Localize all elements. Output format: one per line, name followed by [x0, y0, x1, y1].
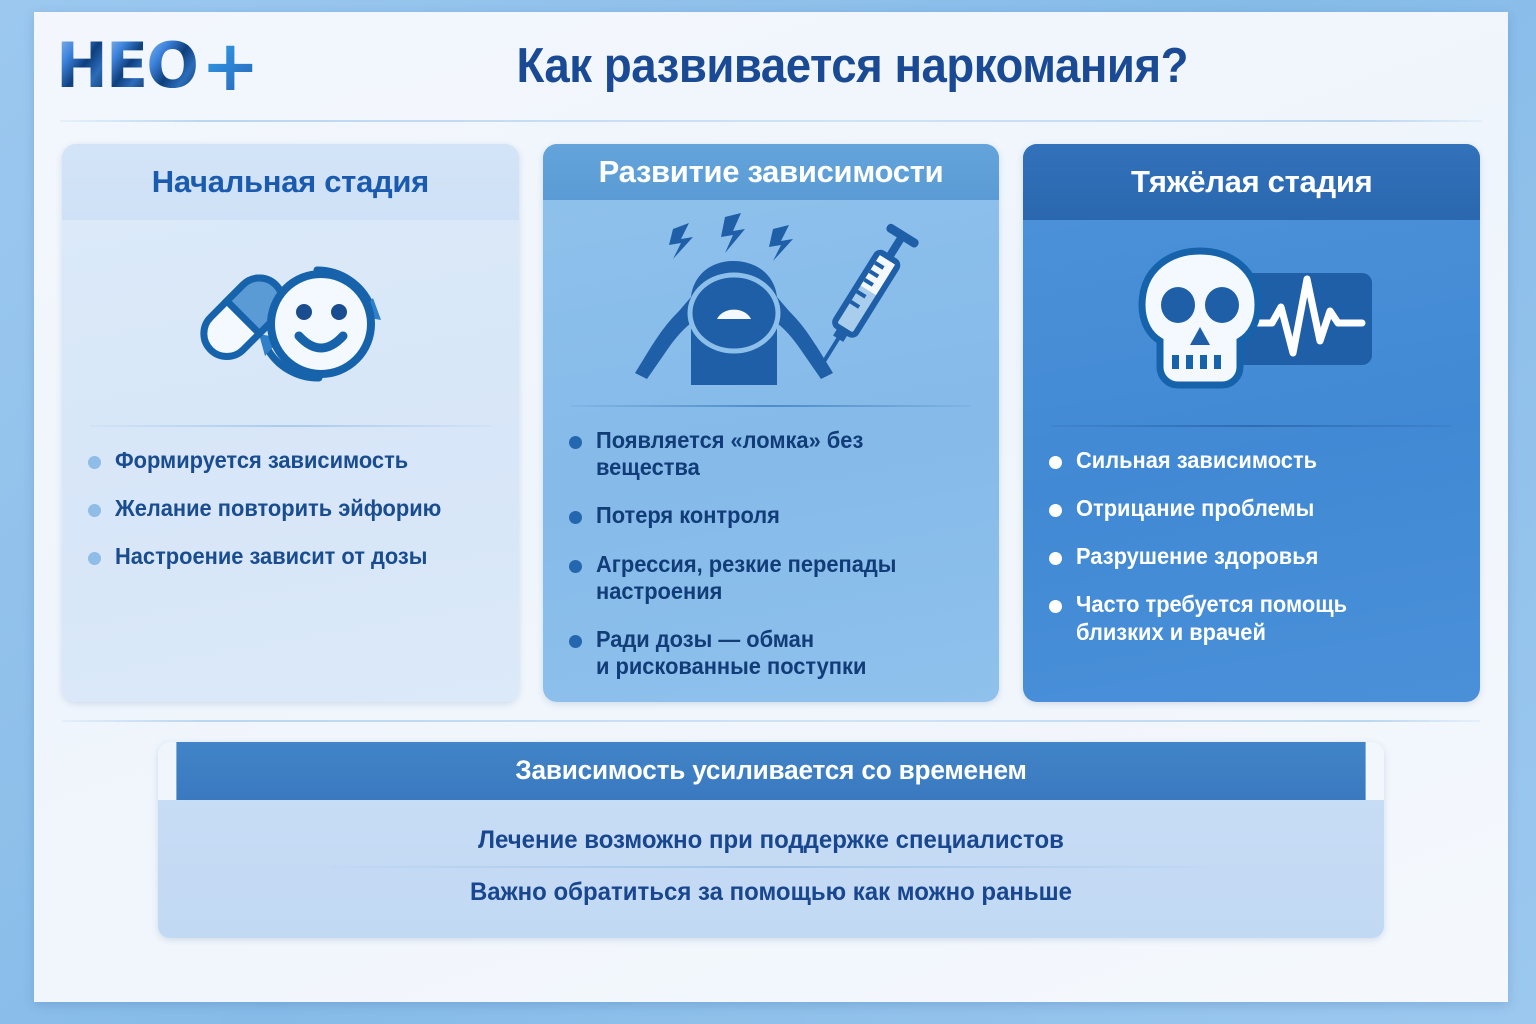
bullet-text: Отрицание проблемы — [1076, 495, 1314, 522]
stage-card-initial[interactable]: Начальная стадия — [62, 144, 519, 702]
bullet-text: Ради дозы — обман и рискованные поступки — [596, 626, 866, 680]
list-item: Настроение зависит от дозы — [88, 543, 499, 570]
stage-card-initial-rule — [90, 425, 491, 427]
list-item: Часто требуется помощь близких и врачей — [1049, 591, 1460, 645]
bullet-dot-icon — [569, 635, 582, 648]
bullet-dot-icon — [1049, 552, 1062, 565]
bullet-text: Агрессия, резкие перепады настроения — [596, 551, 960, 605]
bullet-dot-icon — [569, 511, 582, 524]
list-item: Формируется зависимость — [88, 447, 499, 474]
list-item: Сильная зависимость — [1049, 447, 1460, 474]
outer-frame: НЕО+ Как развивается наркомания? Начальн… — [0, 0, 1536, 1024]
bullet-dot-icon — [1049, 456, 1062, 469]
stages-row: Начальная стадия — [34, 122, 1508, 702]
logo-letter-n: Н — [56, 35, 106, 97]
page-header: НЕО+ Как развивается наркомания? — [34, 12, 1508, 120]
summary-heading: Зависимость усиливается со временем — [176, 742, 1365, 800]
bullet-text: Настроение зависит от дозы — [115, 543, 427, 570]
bullet-dot-icon — [88, 504, 101, 517]
stage-card-initial-bullets: Формируется зависимость Желание повторит… — [62, 447, 519, 592]
stage-card-severe-bullets: Сильная зависимость Отрицание проблемы Р… — [1023, 447, 1480, 668]
summary-line-early-help: Важно обратиться за помощью как можно ра… — [206, 868, 1337, 918]
logo-letter-o: О — [146, 35, 197, 97]
summary-body: Лечение возможно при поддержке специалис… — [158, 800, 1384, 938]
bullet-dot-icon — [569, 560, 582, 573]
page-title: Как развивается наркомания? — [300, 38, 1431, 94]
bullet-text: Сильная зависимость — [1076, 447, 1317, 474]
skull-ecg-monitor-icon — [1023, 220, 1480, 425]
stage-card-initial-body: Формируется зависимость Желание повторит… — [62, 220, 519, 702]
bullet-text: Часто требуется помощь близких и врачей — [1076, 591, 1347, 645]
infographic-page: НЕО+ Как развивается наркомания? Начальн… — [34, 12, 1508, 1002]
stage-card-severe-title: Тяжёлая стадия — [1023, 144, 1480, 220]
distressed-person-syringe-icon — [543, 200, 1000, 405]
bullet-dot-icon — [569, 436, 582, 449]
list-item: Разрушение здоровья — [1049, 543, 1460, 570]
bullet-dot-icon — [88, 456, 101, 469]
logo-letter-e: Е — [106, 35, 146, 97]
summary-panel: Зависимость усиливается со временем Лече… — [158, 742, 1384, 938]
stage-card-severe-body: Сильная зависимость Отрицание проблемы Р… — [1023, 220, 1480, 702]
summary-line-treatment: Лечение возможно при поддержке специалис… — [206, 816, 1337, 866]
bullet-text: Разрушение здоровья — [1076, 543, 1318, 570]
stage-card-initial-title: Начальная стадия — [62, 144, 519, 220]
list-item: Ради дозы — обман и рискованные поступки — [569, 626, 980, 680]
bullet-dot-icon — [1049, 600, 1062, 613]
list-item: Агрессия, резкие перепады настроения — [569, 551, 980, 605]
bullet-text: Потеря контроля — [596, 502, 780, 529]
stage-card-severe-rule — [1051, 425, 1452, 427]
stage-card-severe[interactable]: Тяжёлая стадия — [1023, 144, 1480, 702]
bullet-text: Появляется «ломка» без вещества — [596, 427, 960, 481]
bullet-text: Формируется зависимость — [115, 447, 408, 474]
stage-card-development-bullets: Появляется «ломка» без вещества Потеря к… — [543, 427, 1000, 702]
bullet-dot-icon — [88, 552, 101, 565]
stage-card-development-body: Появляется «ломка» без вещества Потеря к… — [543, 200, 1000, 702]
bullet-dot-icon — [1049, 504, 1062, 517]
list-item: Появляется «ломка» без вещества — [569, 427, 980, 481]
bullet-text: Желание повторить эйфорию — [115, 495, 441, 522]
list-item: Потеря контроля — [569, 502, 980, 529]
stage-card-development-title: Развитие зависимости — [543, 144, 1000, 200]
logo-plus-icon: + — [201, 31, 258, 101]
summary-section: Зависимость усиливается со временем Лече… — [34, 720, 1508, 938]
list-item: Отрицание проблемы — [1049, 495, 1460, 522]
brand-logo: НЕО+ — [56, 31, 258, 101]
stage-card-development[interactable]: Развитие зависимости — [543, 144, 1000, 702]
list-item: Желание повторить эйфорию — [88, 495, 499, 522]
stage-card-development-rule — [571, 405, 972, 407]
summary-divider — [62, 720, 1480, 722]
pill-smiley-cycle-icon — [62, 220, 519, 425]
